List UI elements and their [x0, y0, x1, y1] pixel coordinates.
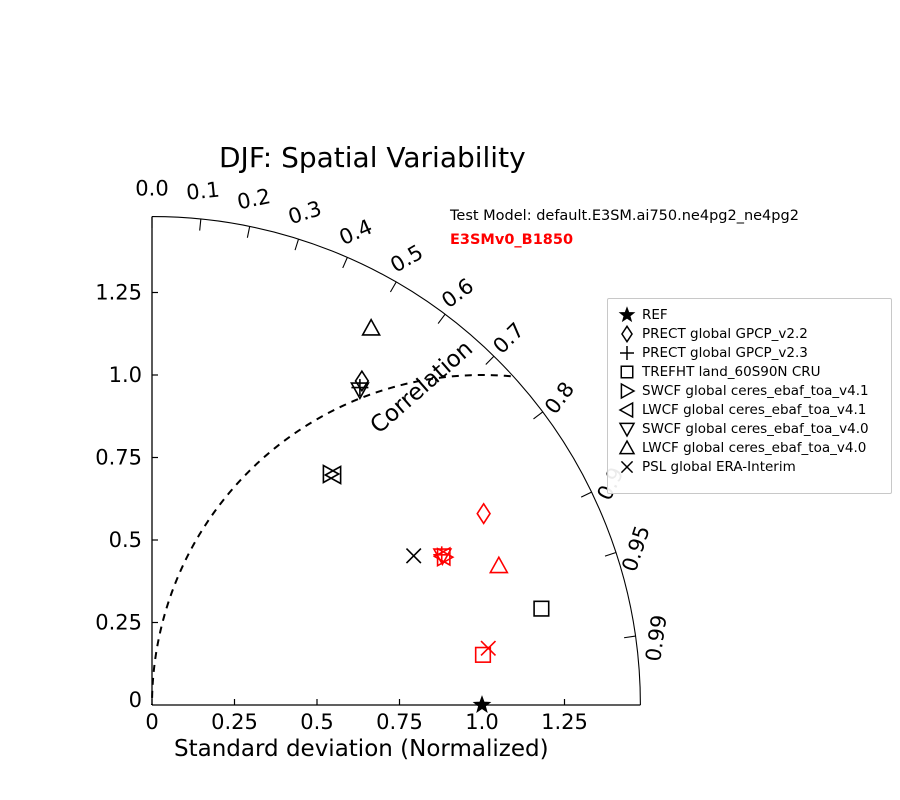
correlation-tick [486, 356, 494, 364]
triangle-up-icon [616, 439, 638, 457]
data-marker [476, 648, 491, 663]
diamond-icon [616, 325, 638, 343]
legend-item-label: SWCF global ceres_ebaf_toa_v4.0 [642, 421, 869, 437]
legend-item[interactable]: PRECT global GPCP_v2.2 [612, 324, 887, 343]
x-axis-tick-label: 0.25 [211, 710, 258, 734]
data-marker [363, 320, 380, 335]
legend-symbol [612, 458, 642, 476]
correlation-tick-label: 0.4 [336, 215, 376, 250]
correlation-tick-label: 0.1 [185, 178, 221, 205]
square-icon [616, 363, 638, 381]
legend-symbol [612, 382, 642, 400]
y-axis-tick-label: 0.5 [109, 528, 142, 552]
taylor-diagram-figure: DJF: Spatial Variability Test Model: def… [0, 0, 900, 800]
legend-symbol [612, 363, 642, 381]
correlation-tick [605, 552, 616, 556]
correlation-tick-label: 0.2 [235, 184, 273, 214]
cross-icon [616, 458, 638, 476]
x-axis-label: Standard deviation (Normalized) [174, 736, 549, 762]
x-axis-tick-label: 1.0 [465, 710, 498, 734]
star-icon [616, 306, 638, 324]
legend-symbol [612, 420, 642, 438]
legend-item-label: PRECT global GPCP_v2.3 [642, 345, 808, 361]
data-marker [534, 601, 549, 616]
legend-symbol [612, 439, 642, 457]
y-axis-tick-label: 1.0 [109, 363, 142, 387]
ref-model-annotation: E3SMv0_B1850 [450, 232, 573, 248]
correlation-tick-label: 0.5 [386, 240, 427, 277]
legend-item[interactable]: TREFHT land_60S90N CRU [612, 362, 887, 381]
correlation-tick-label: 0.3 [285, 196, 324, 229]
triangle-left-icon [616, 401, 638, 419]
legend-item-label: PSL global ERA-Interim [642, 459, 796, 475]
legend-item[interactable]: PRECT global GPCP_v2.3 [612, 343, 887, 362]
legend-item[interactable]: LWCF global ceres_ebaf_toa_v4.1 [612, 400, 887, 419]
x-axis-tick-label: 0 [145, 710, 158, 734]
data-marker [490, 557, 507, 572]
outer-correlation-arc [152, 217, 640, 705]
legend-item[interactable]: LWCF global ceres_ebaf_toa_v4.0 [612, 438, 887, 457]
triangle-right-icon [616, 382, 638, 400]
legend-item-label: TREFHT land_60S90N CRU [642, 364, 821, 380]
correlation-tick [438, 314, 445, 323]
legend-symbol [612, 401, 642, 419]
correlation-tick-label: 0.99 [641, 613, 671, 663]
correlation-tick-label: 0.6 [437, 274, 478, 313]
legend-item[interactable]: PSL global ERA-Interim [612, 457, 887, 476]
legend-item[interactable]: SWCF global ceres_ebaf_toa_v4.1 [612, 381, 887, 400]
correlation-tick-label: 0.7 [488, 318, 529, 359]
correlation-tick-label: 0.95 [617, 523, 654, 575]
correlation-axis-title: Correlation [366, 336, 478, 439]
correlation-tick [343, 257, 348, 268]
legend-item[interactable]: REF [612, 305, 887, 324]
correlation-tick [200, 219, 201, 230]
correlation-tick [581, 492, 591, 497]
legend: REFPRECT global GPCP_v2.2PRECT global GP… [607, 298, 892, 494]
y-axis-tick-label: 0.75 [95, 446, 142, 470]
legend-symbol [612, 325, 642, 343]
data-marker [477, 504, 490, 524]
y-axis-tick-label: 0.25 [95, 611, 142, 635]
y-axis-tick-label: 0 [129, 688, 142, 712]
correlation-tick [533, 412, 542, 419]
correlation-tick [295, 239, 298, 250]
legend-item-label: LWCF global ceres_ebaf_toa_v4.1 [642, 402, 866, 418]
legend-item-label: PRECT global GPCP_v2.2 [642, 326, 808, 342]
triangle-down-icon [616, 420, 638, 438]
page-title: DJF: Spatial Variability [219, 141, 526, 174]
legend-item[interactable]: SWCF global ceres_ebaf_toa_v4.0 [612, 419, 887, 438]
test-model-annotation: Test Model: default.E3SM.ai750.ne4pg2_ne… [450, 208, 799, 224]
correlation-tick-label: 0.8 [540, 377, 579, 418]
legend-item-label: REF [642, 307, 668, 323]
legend-item-label: SWCF global ceres_ebaf_toa_v4.1 [642, 383, 869, 399]
y-axis-tick-label: 1.25 [95, 281, 142, 305]
correlation-tick-label: 0.0 [135, 177, 168, 201]
x-axis-tick-label: 0.5 [300, 710, 333, 734]
rms-difference-arc [152, 375, 511, 705]
x-axis-tick-label: 1.25 [541, 710, 588, 734]
plus-icon [616, 344, 638, 362]
correlation-tick [247, 226, 249, 237]
x-axis-tick-label: 0.75 [376, 710, 423, 734]
correlation-tick [624, 636, 635, 638]
correlation-tick [390, 282, 396, 292]
legend-item-label: LWCF global ceres_ebaf_toa_v4.0 [642, 440, 866, 456]
legend-symbol [612, 306, 642, 324]
legend-symbol [612, 344, 642, 362]
